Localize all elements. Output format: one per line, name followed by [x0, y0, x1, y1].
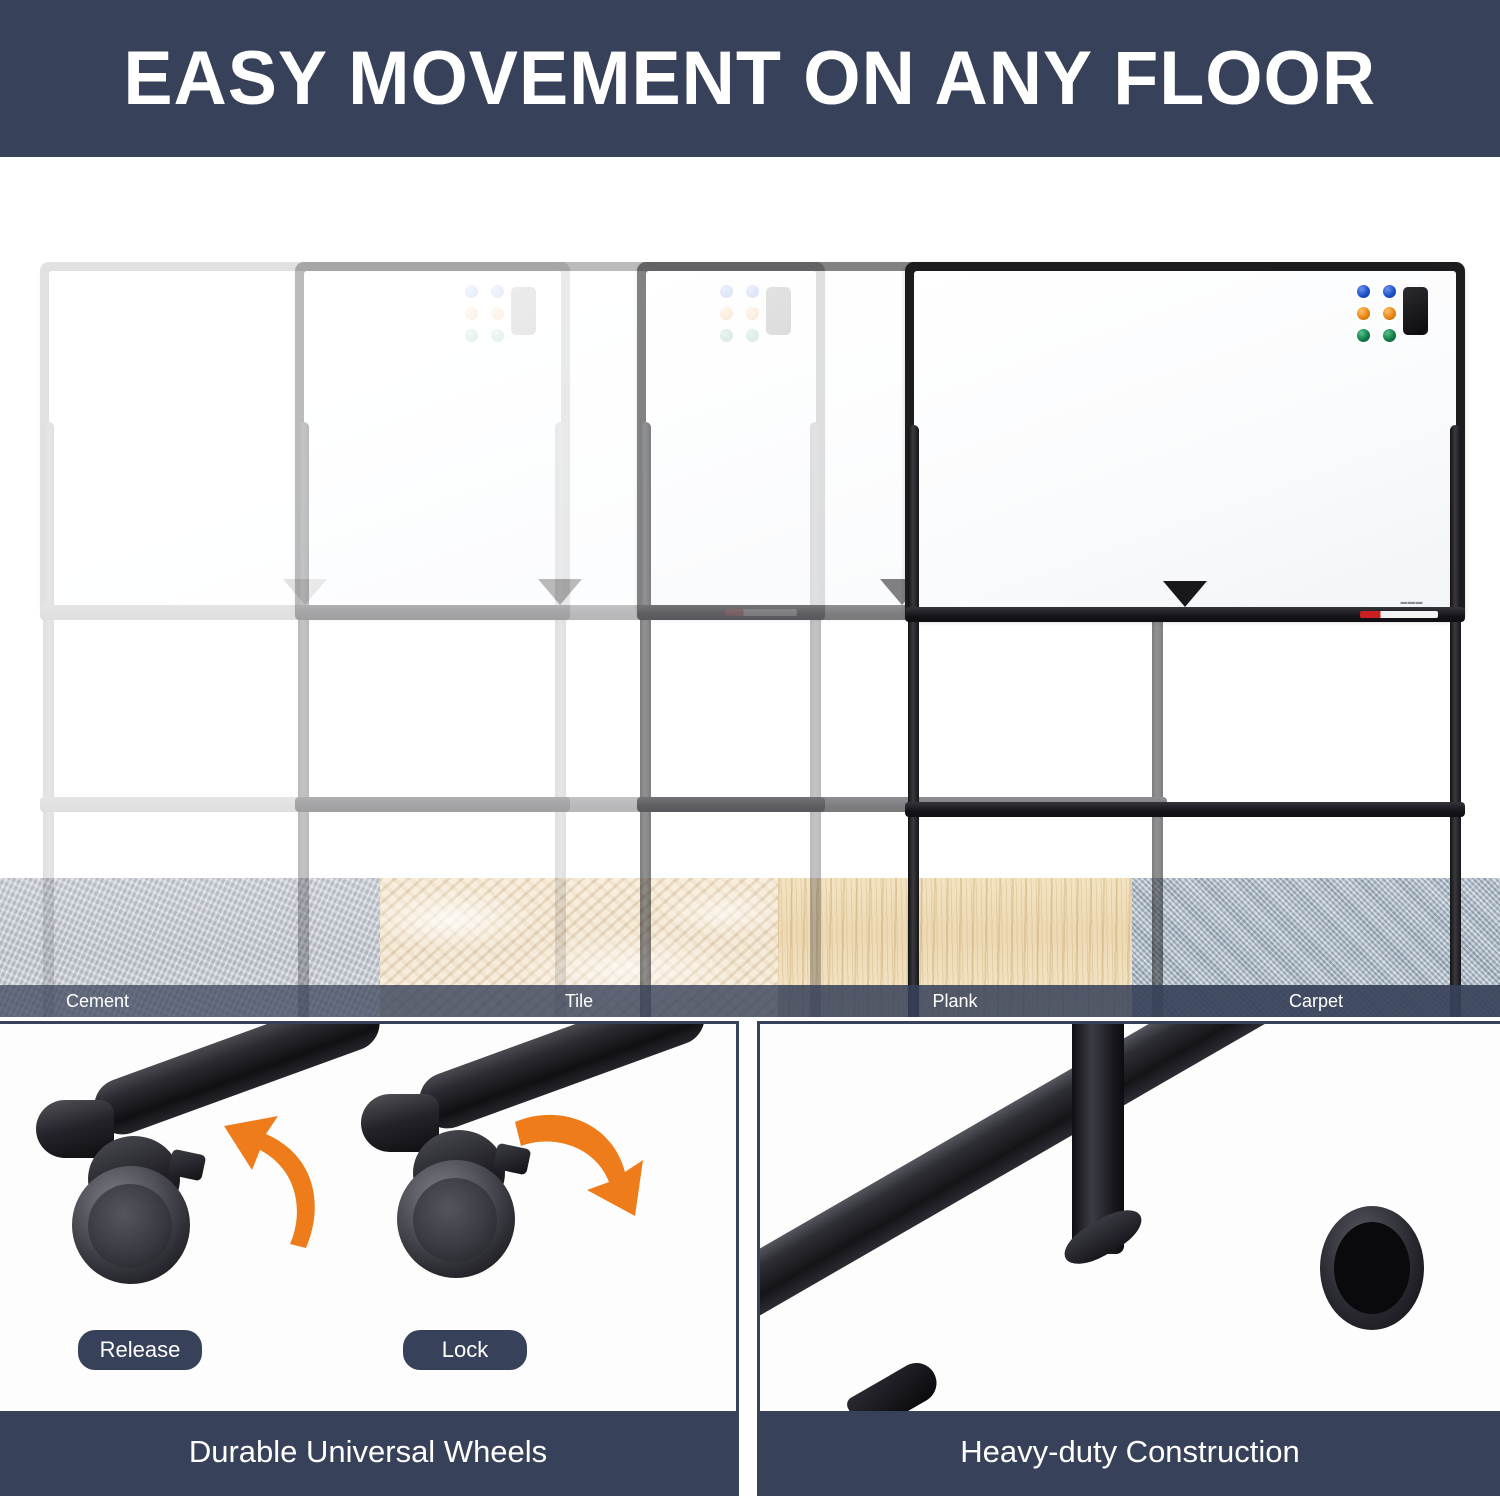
rotate-arrow-down-icon	[495, 1098, 645, 1248]
panel-durable-wheels: Release Lock	[0, 1021, 739, 1496]
rotate-arrow-up-icon	[178, 1110, 328, 1260]
floor-label-carpet: Carpet	[1132, 985, 1500, 1017]
floor-label-tile: Tile	[380, 985, 778, 1017]
dry-erase-marker	[1360, 611, 1438, 618]
floor-label-cement: Cement	[0, 985, 380, 1017]
floor-label-bar: Cement Tile Plank Carpet	[0, 985, 1500, 1017]
tray-bracket	[538, 579, 582, 605]
panel-heavy-duty: Heavy-duty Construction	[757, 1021, 1500, 1496]
header-banner: EASY MOVEMENT ON ANY FLOOR	[0, 0, 1500, 157]
brand-logo: ▬▬▬	[1401, 599, 1424, 606]
wheels-photo: Release Lock	[0, 1024, 736, 1414]
magnet-green-icon	[1357, 329, 1370, 342]
magnet-orange-icon	[1383, 307, 1396, 320]
caster-roller	[1320, 1206, 1424, 1330]
stand-post-left	[640, 422, 651, 1017]
frame-tube-diagonal	[760, 1024, 1358, 1330]
eraser-icon	[1403, 287, 1428, 335]
caster-roller	[72, 1166, 190, 1284]
caption-heavy-duty: Heavy-duty Construction	[760, 1411, 1500, 1493]
magnet-orange-icon	[1357, 307, 1370, 320]
magnet-set	[1357, 285, 1428, 342]
magnet-blue-icon	[1383, 285, 1396, 298]
badge-release: Release	[78, 1330, 202, 1370]
page-title: EASY MOVEMENT ON ANY FLOOR	[124, 41, 1377, 117]
stand-post-left	[908, 425, 919, 1017]
feature-panels: Release Lock	[0, 1017, 1500, 1500]
hero-product-scene: ▬▬▬	[0, 157, 1500, 1017]
floor-label-plank: Plank	[778, 985, 1132, 1017]
caption-durable-wheels: Durable Universal Wheels	[0, 1411, 736, 1493]
stand-post-right	[1450, 425, 1461, 1017]
product-feature-page: EASY MOVEMENT ON ANY FLOOR	[0, 0, 1500, 1500]
stand-post-left	[298, 422, 309, 1017]
lower-crossbar	[905, 802, 1465, 817]
tube-end-cap	[844, 1356, 944, 1414]
magnet-green-icon	[1383, 329, 1396, 342]
magnet-blue-icon	[1357, 285, 1370, 298]
construction-photo	[760, 1024, 1500, 1414]
tray-bracket	[1163, 581, 1207, 607]
stand-post-left	[43, 422, 54, 1017]
badge-lock: Lock	[403, 1330, 527, 1370]
